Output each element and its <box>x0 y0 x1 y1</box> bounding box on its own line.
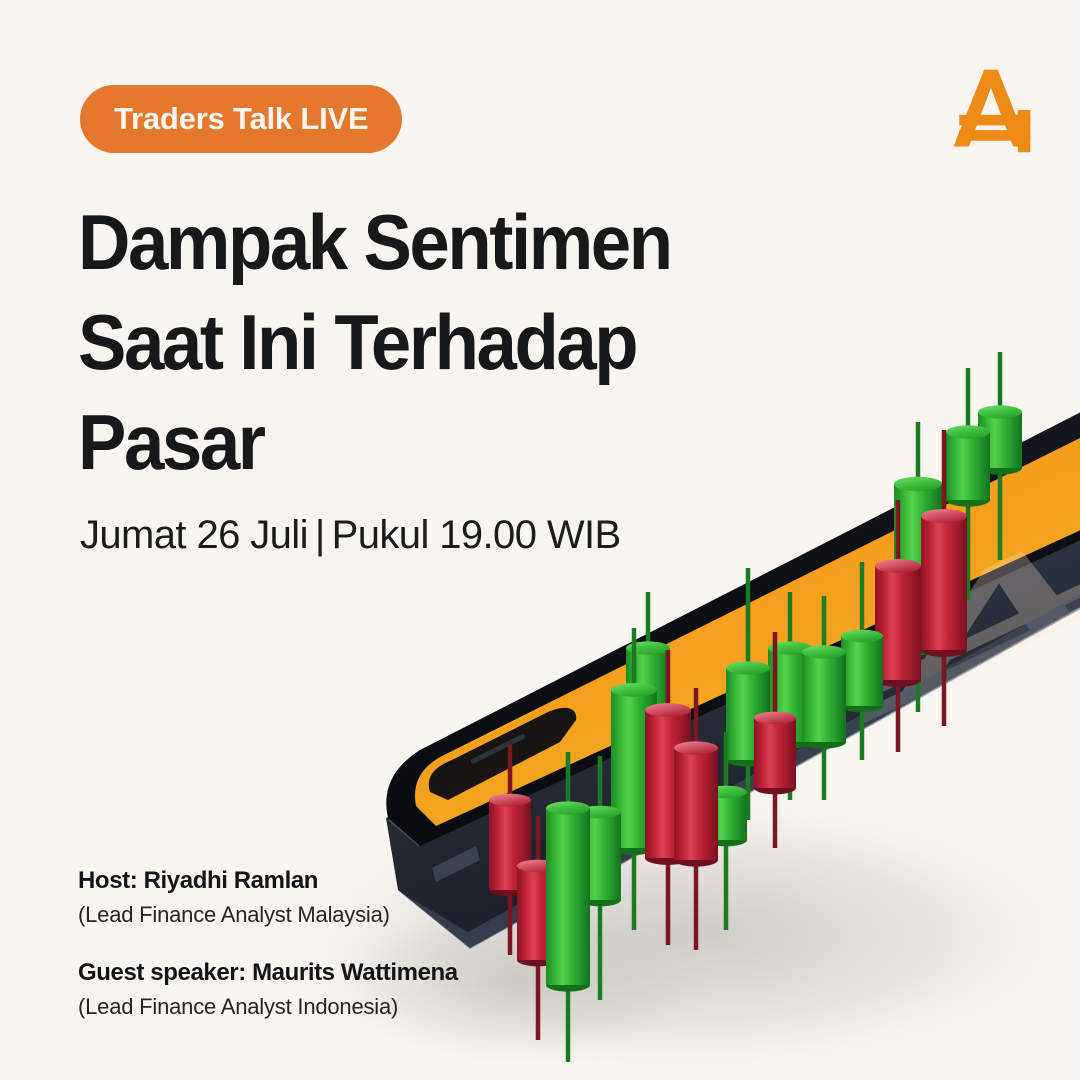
event-date: Jumat 26 Juli <box>80 513 308 557</box>
live-badge-label: Traders Talk LIVE <box>114 101 368 137</box>
datetime-separator: | <box>308 513 332 557</box>
page-title: Dampak Sentimen Saat Ini Terhadap Pasar <box>78 192 671 492</box>
headline-line-2: Saat Ini Terhadap <box>78 292 671 392</box>
credit-guest: Guest speaker: Maurits Wattimena (Lead F… <box>78 957 458 1023</box>
credit-guest-name: Guest speaker: Maurits Wattimena <box>78 957 458 989</box>
credits-block: Host: Riyadhi Ramlan (Lead Finance Analy… <box>78 865 458 1049</box>
live-badge: Traders Talk LIVE <box>80 85 402 153</box>
event-time: Pukul 19.00 WIB <box>332 513 621 557</box>
credit-host: Host: Riyadhi Ramlan (Lead Finance Analy… <box>78 865 458 931</box>
accent-a-logo-icon <box>942 62 1038 158</box>
headline-line-3: Pasar <box>78 392 671 492</box>
credit-host-role: (Lead Finance Analyst Malaysia) <box>78 899 458 931</box>
credit-host-name: Host: Riyadhi Ramlan <box>78 865 458 897</box>
event-datetime: Jumat 26 Juli|Pukul 19.00 WIB <box>80 513 621 558</box>
headline-line-1: Dampak Sentimen <box>78 192 671 292</box>
credit-guest-role: (Lead Finance Analyst Indonesia) <box>78 991 458 1023</box>
poster-canvas: Traders Talk LIVE Dampak Sentimen Saat I… <box>0 0 1080 1080</box>
